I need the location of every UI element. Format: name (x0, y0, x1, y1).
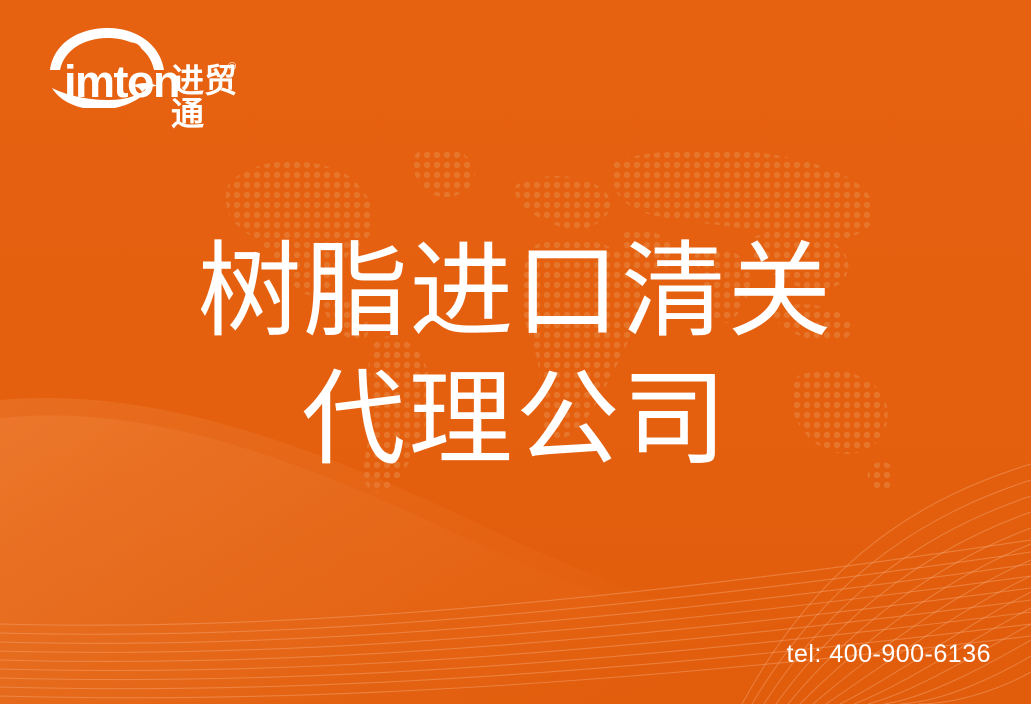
brand-logo[interactable]: imton 进贸通 ® (36, 26, 266, 108)
logo-wordmark: imton (64, 59, 179, 104)
poster-canvas: imton 进贸通 ® 树脂进口清关 代理公司 tel: 400-900-613… (0, 0, 1031, 704)
contact-phone[interactable]: tel: 400-900-6136 (787, 642, 991, 667)
title-line-2: 代理公司 (0, 356, 1031, 484)
page-title: 树脂进口清关 代理公司 (0, 228, 1031, 484)
logo-chinese-text: 进贸通 (171, 64, 266, 130)
title-line-1: 树脂进口清关 (0, 228, 1031, 356)
registered-trademark-icon: ® (228, 62, 236, 73)
